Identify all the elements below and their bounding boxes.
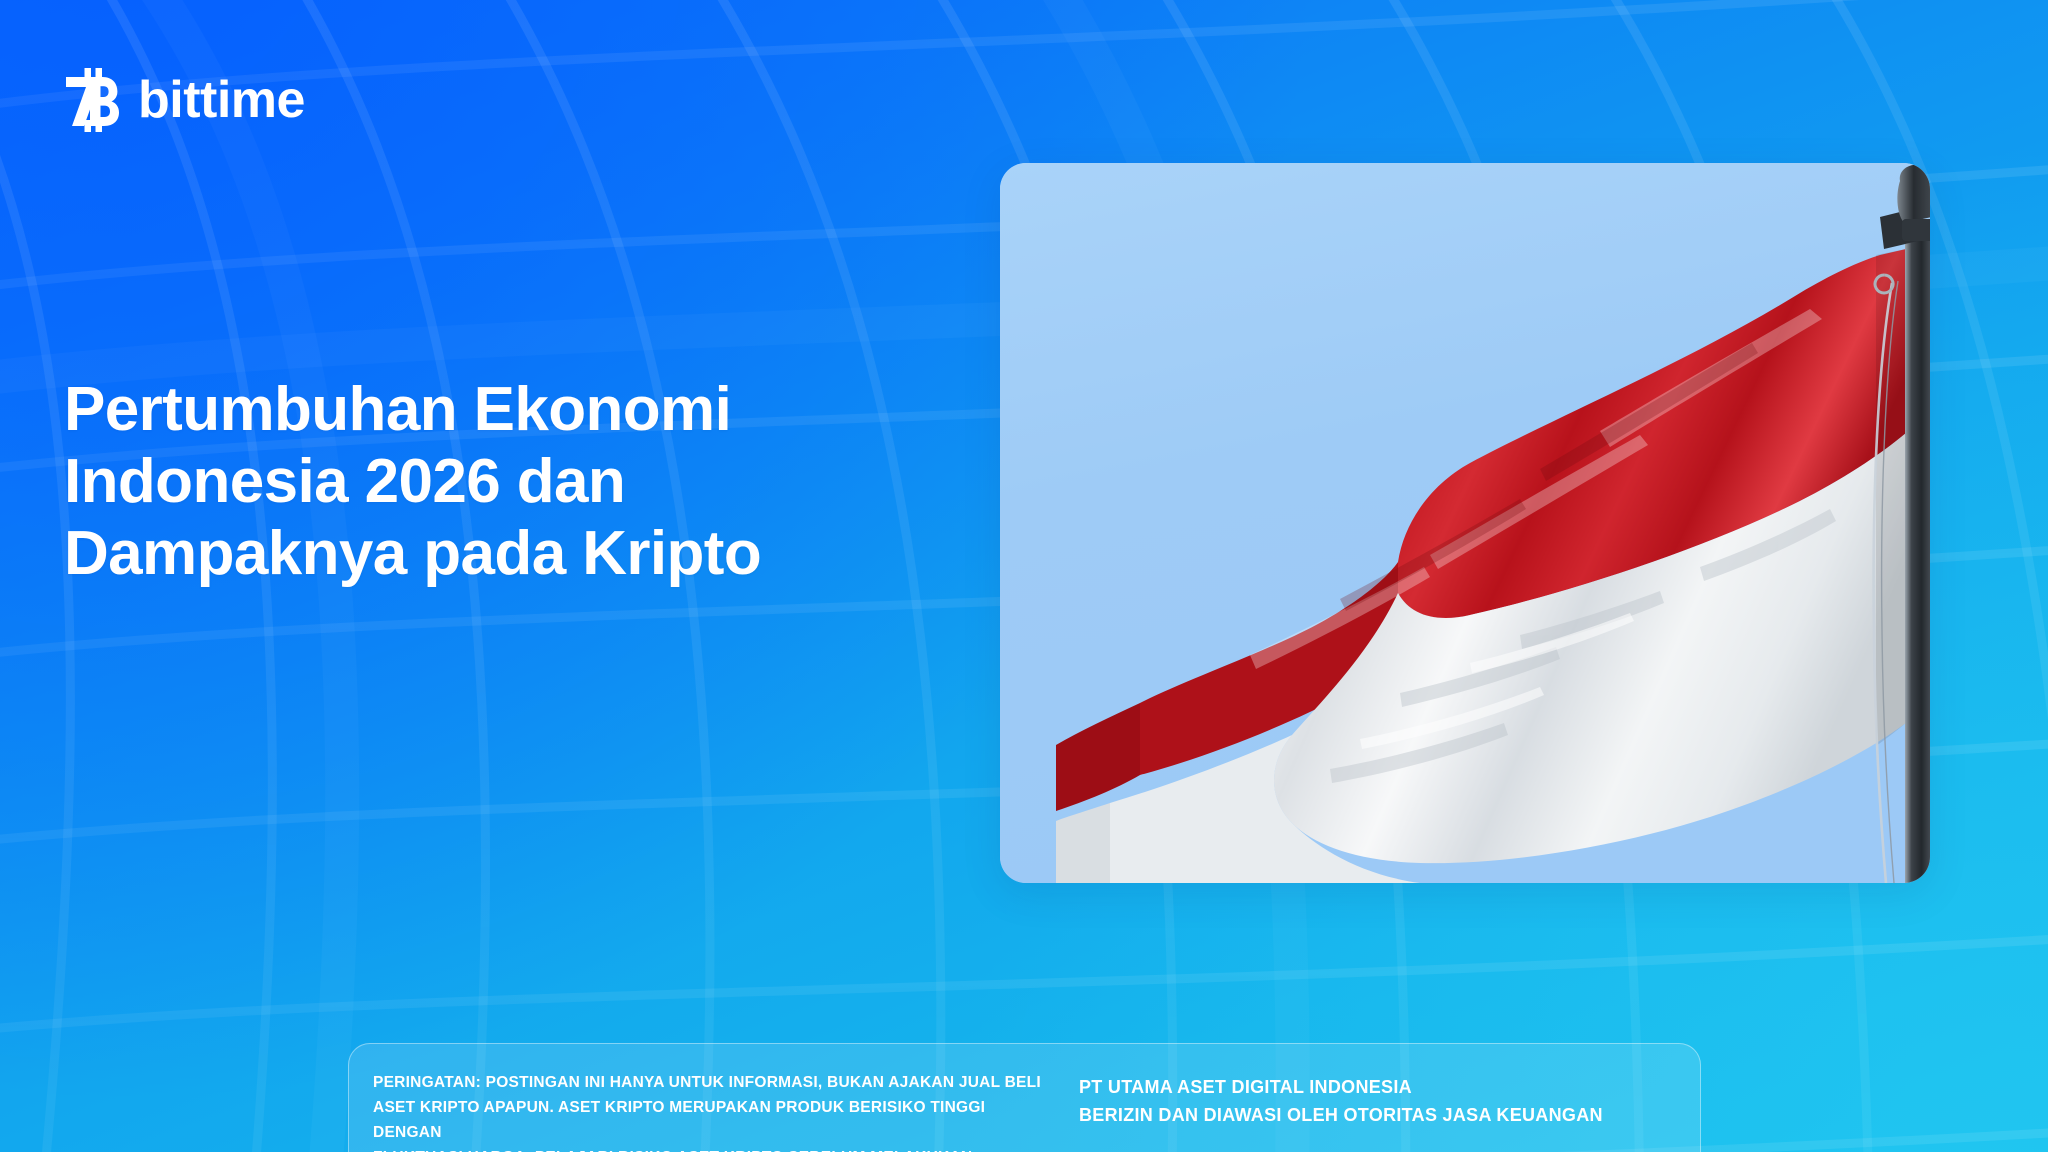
risk-warning-line-1: PERINGATAN: POSTINGAN INI HANYA UNTUK IN… bbox=[373, 1070, 1049, 1095]
legal-entity-text: PT UTAMA ASET DIGITAL INDONESIA BERIZIN … bbox=[1049, 1070, 1700, 1130]
risk-warning-line-3: FLUKTUASI HARGA. PELAJARI RISIKO ASET KR… bbox=[373, 1145, 1049, 1152]
risk-warning-line-2: ASET KRIPTO APAPUN. ASET KRIPTO MERUPAKA… bbox=[373, 1095, 1049, 1145]
risk-warning-text: PERINGATAN: POSTINGAN INI HANYA UNTUK IN… bbox=[349, 1070, 1049, 1152]
headline-line-1: Pertumbuhan Ekonomi bbox=[64, 374, 884, 446]
bittime-logo[interactable]: bittime bbox=[64, 64, 305, 136]
bittime-7b-logo-icon bbox=[64, 68, 120, 132]
legal-entity-line-2: BERIZIN DAN DIAWASI OLEH OTORITAS JASA K… bbox=[1079, 1102, 1700, 1130]
headline-line-2: Indonesia 2026 dan bbox=[64, 446, 884, 518]
page-title: Pertumbuhan Ekonomi Indonesia 2026 dan D… bbox=[64, 374, 884, 590]
brand-name: bittime bbox=[138, 74, 305, 126]
promo-banner: bittime Pertumbuhan Ekonomi Indonesia 20… bbox=[0, 0, 2048, 1152]
disclaimer-bar: PERINGATAN: POSTINGAN INI HANYA UNTUK IN… bbox=[348, 1043, 1701, 1152]
headline-line-3: Dampaknya pada Kripto bbox=[64, 518, 884, 590]
indonesian-flag-photo bbox=[1000, 163, 1930, 883]
legal-entity-line-1: PT UTAMA ASET DIGITAL INDONESIA bbox=[1079, 1074, 1700, 1102]
